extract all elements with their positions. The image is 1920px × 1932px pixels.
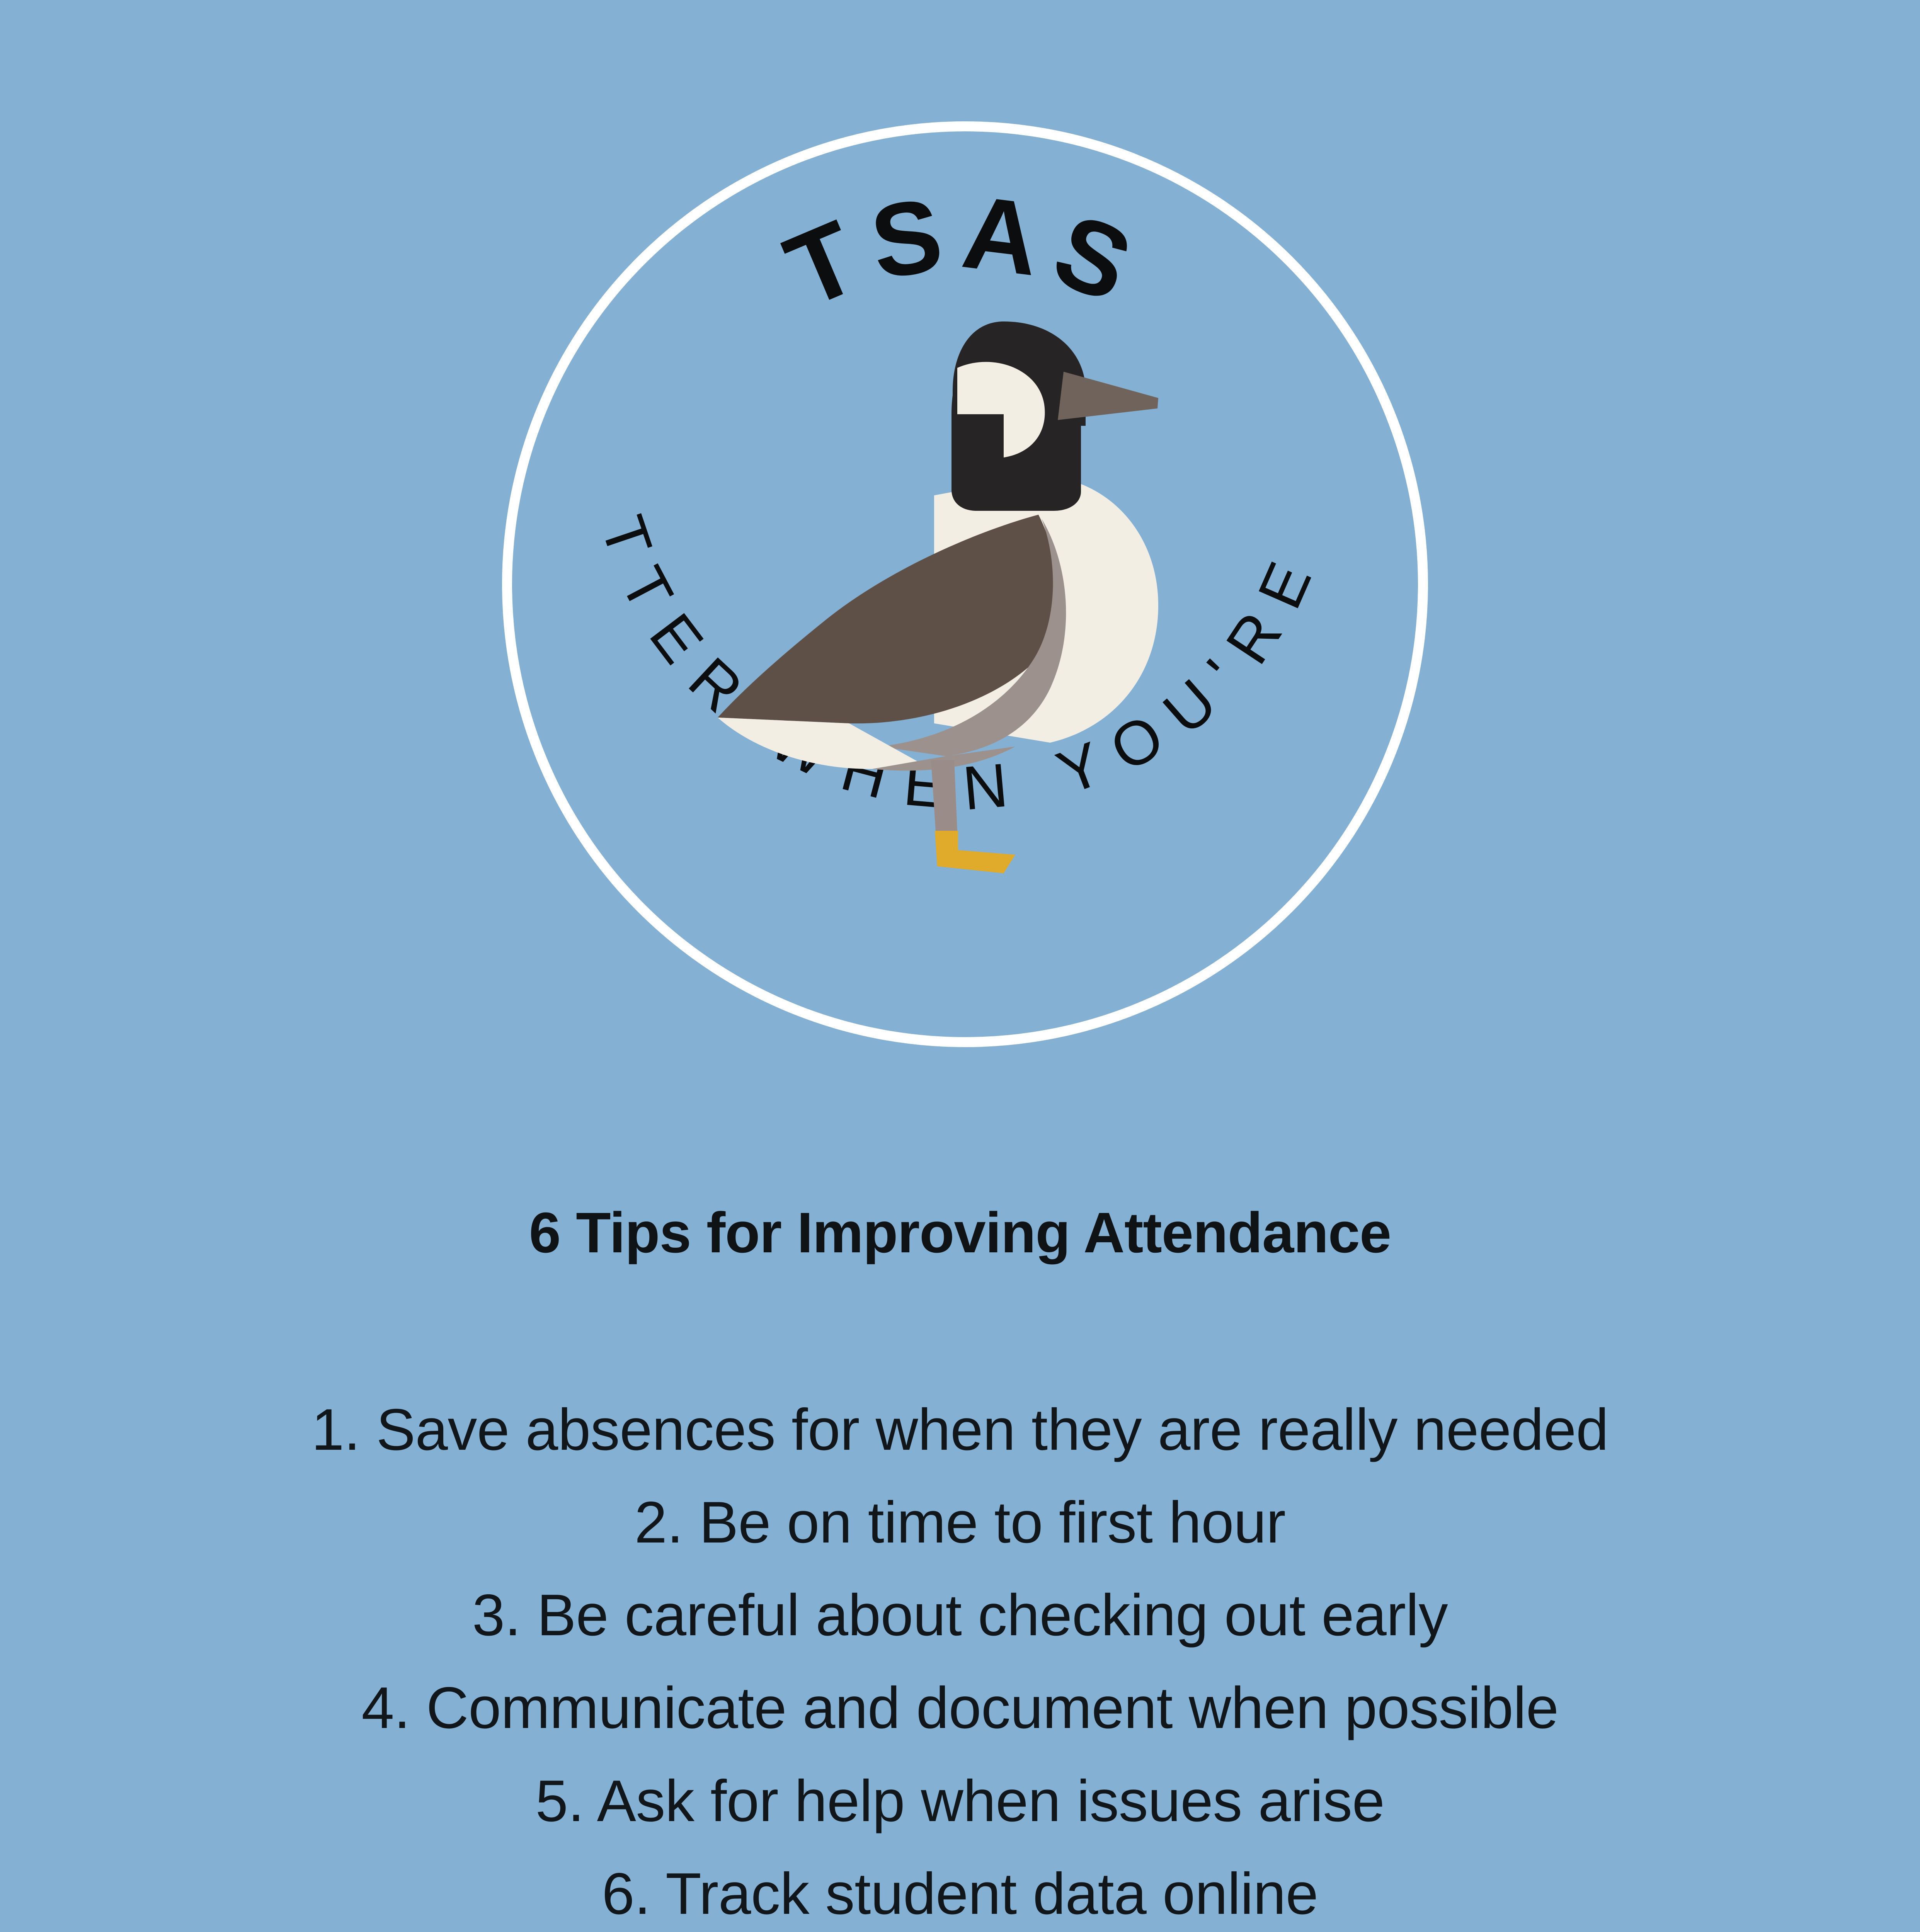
list-item: 2. Be on time to first hour [0,1476,1920,1569]
poster-canvas: TSAS IS BETTER WHEN YOU'RE HERE [0,0,1920,1932]
list-item: 4. Communicate and document when possibl… [0,1662,1920,1754]
goose-foot [935,831,1015,873]
tips-list: 1. Save absences for when they are reall… [0,1383,1920,1932]
list-item: 3. Be careful about checking out early [0,1569,1920,1662]
tsas-logo-badge: TSAS IS BETTER WHEN YOU'RE HERE [501,121,1429,1048]
logo-svg: TSAS IS BETTER WHEN YOU'RE HERE [501,121,1429,1048]
list-item: 5. Ask for help when issues arise [0,1755,1920,1847]
list-item: 6. Track student data online [0,1847,1920,1932]
logo-acronym: TSAS [770,173,1159,330]
goose-beak [1058,372,1158,420]
goose-leg [931,760,957,832]
page-title: 6 Tips for Improving Attendance [0,1202,1920,1265]
list-item: 1. Save absences for when they are reall… [0,1383,1920,1476]
